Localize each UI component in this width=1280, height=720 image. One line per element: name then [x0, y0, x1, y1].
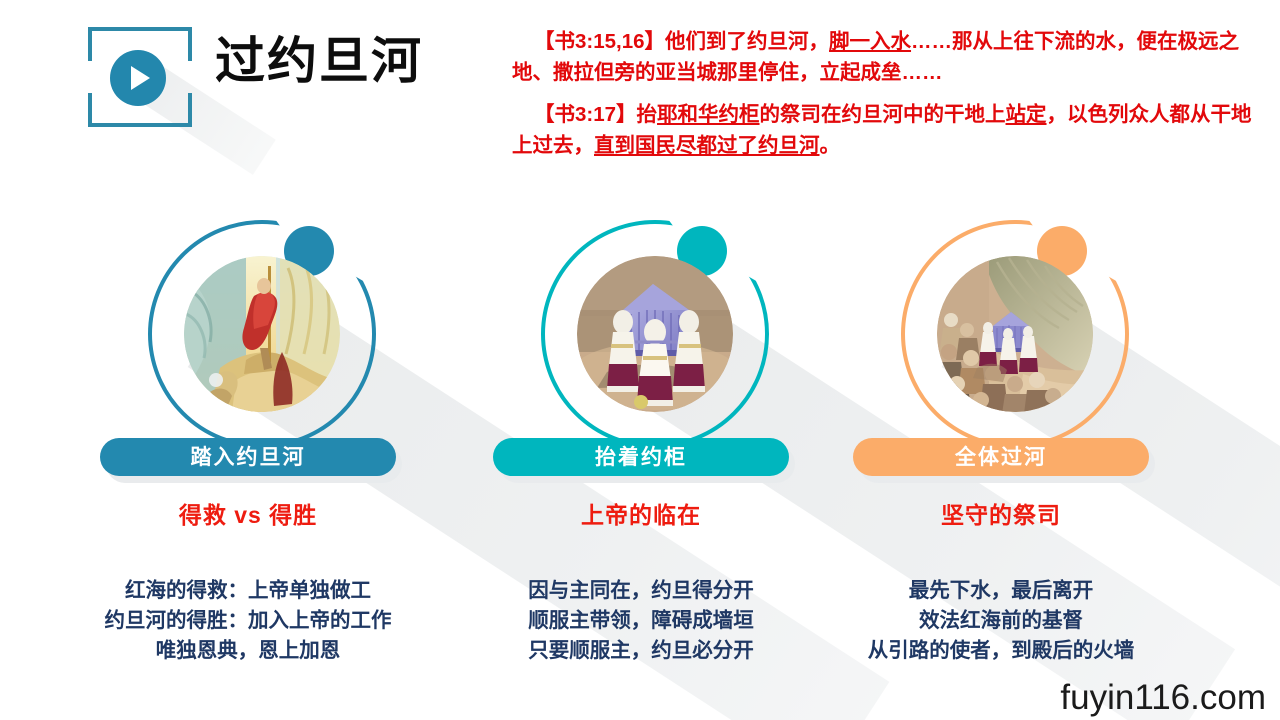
body-line: 约旦河的得胜：加入上帝的工作 [62, 606, 434, 636]
body-line: 红海的得救：上帝单独做工 [62, 576, 434, 606]
body-line: 因与主同在，约旦得分开 [455, 576, 827, 606]
scripture2-text-b: 的祭司在约旦河中的干地上 [760, 103, 1006, 126]
illustration-1 [184, 256, 340, 412]
step-pill-1[interactable]: 踏入约旦河 [100, 438, 396, 476]
column-body-3: 最先下水，最后离开 效法红海前的基督 从引路的使者，到殿后的火墙 [815, 576, 1187, 666]
scripture2-underline-c: 直到国民尽都过了约旦河 [594, 134, 820, 157]
slide-canvas: 过约旦河 【书3:15,16】他们到了约旦河，脚一入水……那从上往下流的水，便在… [0, 0, 1280, 720]
site-watermark: fuyin116.com [1060, 678, 1266, 718]
ring-graphic-3 [815, 206, 1187, 474]
ring-graphic-1 [62, 206, 434, 474]
column-step-3: 全体过河 坚守的祭司 最先下水，最后离开 效法红海前的基督 从引路的使者，到殿后… [815, 206, 1187, 474]
scripture-underline-a: 脚一入水 [829, 30, 911, 53]
step-pill-3[interactable]: 全体过河 [853, 438, 1149, 476]
column-body-2: 因与主同在，约旦得分开 顺服主带领，障碍成墙垣 只要顺服主，约旦必分开 [455, 576, 827, 666]
slide-header: 过约旦河 【书3:15,16】他们到了约旦河，脚一入水……那从上往下流的水，便在… [0, 0, 1280, 200]
scripture2-text-a: 抬 [637, 103, 658, 126]
scripture-reference: 【书3:15,16】 [534, 30, 665, 53]
step-pill-label-2: 抬着约柜 [595, 447, 687, 468]
scripture-josh-3-15-16: 【书3:15,16】他们到了约旦河，脚一入水……那从上往下流的水，便在极远之地、… [512, 26, 1252, 88]
logo-mark [88, 27, 192, 127]
scripture-reference-2: 【书3:17】 [534, 103, 637, 126]
scripture-block: 【书3:15,16】他们到了约旦河，脚一入水……那从上往下流的水，便在极远之地、… [512, 26, 1252, 161]
body-line: 最先下水，最后离开 [815, 576, 1187, 606]
column-body-1: 红海的得救：上帝单独做工 约旦河的得胜：加入上帝的工作 唯独恩典，恩上加恩 [62, 576, 434, 666]
scripture-text-b: ……那从上往下流的水， [911, 30, 1137, 53]
column-heading-2: 上帝的临在 [455, 496, 827, 530]
ring-graphic-2 [455, 206, 827, 474]
column-step-1: 踏入约旦河 得救 vs 得胜 红海的得救：上帝单独做工 约旦河的得胜：加入上帝的… [62, 206, 434, 474]
scripture-text-a: 他们到了约旦河， [665, 30, 829, 53]
illustration-3 [937, 256, 1093, 412]
column-step-2: 抬着约柜 上帝的临在 因与主同在，约旦得分开 顺服主带领，障碍成墙垣 只要顺服主… [455, 206, 827, 474]
illustration-2 [577, 256, 733, 412]
body-line: 只要顺服主，约旦必分开 [455, 636, 827, 666]
scripture-josh-3-17: 【书3:17】抬耶和华约柜的祭司在约旦河中的干地上站定，以色列众人都从干地上过去… [512, 99, 1252, 161]
step-pill-label-3: 全体过河 [955, 447, 1047, 468]
play-button-icon [110, 50, 166, 106]
body-line: 效法红海前的基督 [815, 606, 1187, 636]
column-heading-3: 坚守的祭司 [815, 496, 1187, 530]
page-title: 过约旦河 [215, 36, 423, 86]
column-heading-1: 得救 vs 得胜 [62, 496, 434, 530]
body-line: 顺服主带领，障碍成墙垣 [455, 606, 827, 636]
scripture2-underline-a: 耶和华约柜 [657, 103, 760, 126]
columns-row: 踏入约旦河 得救 vs 得胜 红海的得救：上帝单独做工 约旦河的得胜：加入上帝的… [0, 206, 1280, 720]
body-line: 唯独恩典，恩上加恩 [62, 636, 434, 666]
step-pill-2[interactable]: 抬着约柜 [493, 438, 789, 476]
step-pill-label-1: 踏入约旦河 [191, 447, 306, 468]
scripture2-underline-b: 站定 [1006, 103, 1047, 126]
scripture2-text-e: 。 [820, 134, 841, 157]
scripture2-text-c: ，以色列 [1047, 103, 1129, 126]
body-line: 从引路的使者，到殿后的火墙 [815, 636, 1187, 666]
